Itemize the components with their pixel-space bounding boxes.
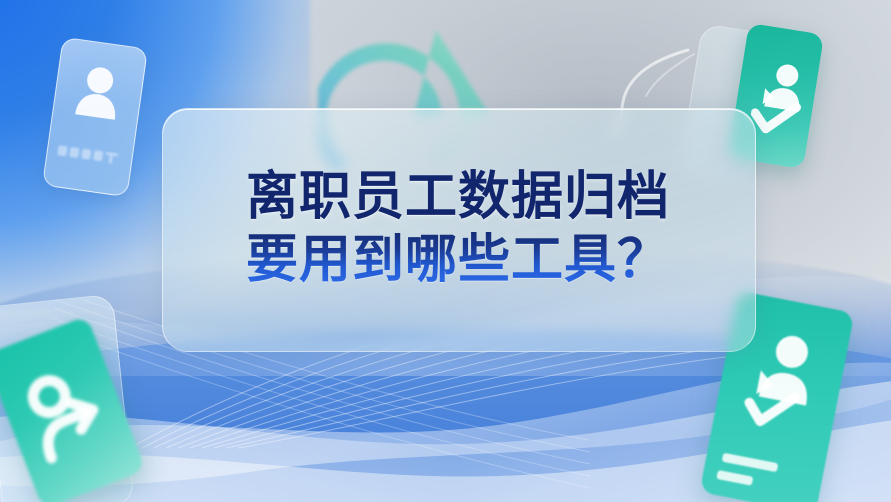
- card-bottom-right-line-1: [722, 453, 779, 473]
- user-check-icon: [747, 57, 811, 145]
- user-transfer-arrow-icon: [15, 357, 122, 471]
- title-line-2: 要用到哪些工具？: [246, 230, 670, 291]
- card-top-left-caption-blurred: [55, 142, 123, 167]
- user-avatar-icon: [71, 62, 126, 125]
- poster-canvas: 离职员工数据归档 要用到哪些工具？: [0, 0, 891, 502]
- card-bottom-right-line-2: [716, 470, 753, 486]
- headline-block: 离职员工数据归档 要用到哪些工具？: [162, 108, 754, 350]
- title-line-1: 离职员工数据归档: [246, 167, 670, 228]
